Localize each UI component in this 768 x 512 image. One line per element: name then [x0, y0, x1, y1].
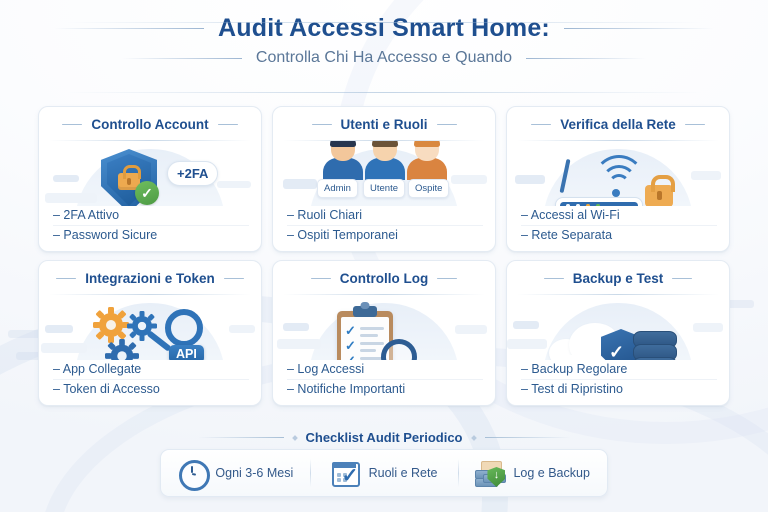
card-bullets: – Ruoli Chiari – Ospiti Temporanei [273, 206, 495, 251]
cloud-shield-database-icon: ✓ [507, 295, 729, 360]
card-bullets: – App Collegate – Token di Accesso [39, 360, 261, 405]
card-header: Controllo Log [273, 261, 495, 292]
dash-left-icon [531, 124, 551, 126]
header-hairline-bottom [66, 92, 702, 93]
card-header: Controllo Account [39, 107, 261, 138]
footer-rule-right [485, 437, 571, 438]
dash-left-icon [544, 278, 564, 280]
bullet-item: – App Collegate [53, 360, 249, 380]
shield-lock-check-icon: ✓ +2FA [39, 141, 261, 206]
card-header: Utenti e Ruoli [273, 107, 495, 138]
gear-orange-icon [93, 307, 129, 343]
footer-title: Checklist Audit Periodico [306, 430, 463, 445]
badge-2fa: +2FA [167, 161, 218, 186]
title-rule-right [564, 28, 714, 29]
card-artwork: API [39, 295, 261, 360]
card-artwork: Admin Utente Ospite [273, 141, 495, 206]
card-artwork: ✓ +2FA [39, 141, 261, 206]
clock-icon [177, 460, 207, 486]
dash-right-icon [437, 124, 457, 126]
dash-left-icon [311, 278, 331, 280]
footer-item-log-backup[interactable]: ↓ Log e Backup [458, 450, 607, 496]
gears-key-api-icon: API [39, 295, 261, 360]
database-icon [633, 331, 677, 360]
dash-right-icon [218, 124, 238, 126]
card-utenti-e-ruoli[interactable]: Utenti e Ruoli [272, 106, 496, 252]
api-tag: API [169, 345, 204, 360]
page-subtitle: Controlla Chi Ha Accesso e Quando [256, 49, 512, 67]
card-bullets: – Accessi al Wi-Fi – Rete Separata [507, 206, 729, 251]
bullet-item: – Test di Ripristino [521, 380, 717, 399]
card-artwork: ✓ ✓ ✓ [273, 295, 495, 360]
diamond-icon [292, 435, 298, 441]
footer-item-frequency[interactable]: Ogni 3-6 Mesi [161, 450, 310, 496]
three-users-icon: Admin Utente Ospite [273, 141, 495, 206]
bullet-item: – Log Accessi [287, 360, 483, 380]
card-integrazioni-e-token[interactable]: Integrazioni e Token [38, 260, 262, 406]
footer-rule-left [198, 437, 284, 438]
title-row: Audit Accessi Smart Home: [0, 14, 768, 43]
header-hairline-top [66, 22, 702, 23]
card-header: Integrazioni e Token [39, 261, 261, 292]
card-title: Verifica della Rete [560, 117, 676, 132]
card-backup-e-test[interactable]: Backup e Test ✓ [506, 260, 730, 406]
key-icon [165, 309, 203, 347]
dash-right-icon [672, 278, 692, 280]
bullet-item: – Rete Separata [521, 226, 717, 245]
card-bullets: – 2FA Attivo – Password Sicure [39, 206, 261, 251]
bullet-item: – Accessi al Wi-Fi [521, 206, 717, 226]
dash-left-icon [56, 278, 76, 280]
card-title: Utenti e Ruoli [341, 117, 428, 132]
subtitle-row: Controlla Chi Ha Accesso e Quando [0, 49, 768, 67]
dash-right-icon [224, 278, 244, 280]
cards-grid: Controllo Account ✓ +2FA – 2 [38, 106, 730, 406]
dash-right-icon [437, 278, 457, 280]
dash-left-icon [312, 124, 332, 126]
magnifier-icon [381, 339, 417, 360]
bullet-item: – Backup Regolare [521, 360, 717, 380]
card-title: Controllo Account [91, 117, 208, 132]
footer-checklist: Checklist Audit Periodico Ogni 3-6 Mesi [160, 430, 608, 497]
card-header: Verifica della Rete [507, 107, 729, 138]
bullet-item: – Password Sicure [53, 226, 249, 245]
footer-item-label: Log e Backup [513, 466, 589, 480]
card-header: Backup e Test [507, 261, 729, 292]
footer-items-box: Ogni 3-6 Mesi ✓ Ruoli e Rete [160, 449, 608, 497]
card-title: Integrazioni e Token [85, 271, 215, 286]
subtitle-rule-right [526, 58, 646, 59]
card-title: Controllo Log [340, 271, 428, 286]
card-artwork: ✓ [507, 295, 729, 360]
footer-title-row: Checklist Audit Periodico [160, 430, 608, 445]
bullet-item: – Ospiti Temporanei [287, 226, 483, 245]
card-controllo-log[interactable]: Controllo Log ✓ ✓ ✓ [272, 260, 496, 406]
subtitle-rule-left [122, 58, 242, 59]
role-badge-utente: Utente [363, 179, 405, 198]
infographic-page: Audit Accessi Smart Home: Controlla Chi … [0, 0, 768, 512]
footer-item-label: Ogni 3-6 Mesi [215, 466, 293, 480]
card-title: Backup e Test [573, 271, 664, 286]
bullet-item: – Ruoli Chiari [287, 206, 483, 226]
gear-blue-bottom-icon [105, 339, 139, 360]
role-badge-admin: Admin [317, 179, 358, 198]
server-shield-icon: ↓ [475, 460, 505, 486]
card-controllo-account[interactable]: Controllo Account ✓ +2FA – 2 [38, 106, 262, 252]
bullet-item: – Notifiche Importanti [287, 380, 483, 399]
role-badge-ospite: Ospite [408, 179, 449, 198]
footer-item-roles-network[interactable]: ✓ Ruoli e Rete [310, 450, 459, 496]
card-bullets: – Log Accessi – Notifiche Importanti [273, 360, 495, 405]
footer-item-label: Ruoli e Rete [369, 466, 438, 480]
clipboard-magnifier-icon: ✓ ✓ ✓ [273, 295, 495, 360]
page-title: Audit Accessi Smart Home: [218, 14, 550, 43]
card-artwork [507, 141, 729, 206]
dash-right-icon [685, 124, 705, 126]
dash-left-icon [62, 124, 82, 126]
card-verifica-della-rete[interactable]: Verifica della Rete [506, 106, 730, 252]
diamond-icon [471, 435, 477, 441]
calendar-check-icon: ✓ [331, 460, 361, 486]
bullet-item: – 2FA Attivo [53, 206, 249, 226]
title-rule-left [54, 28, 204, 29]
card-bullets: – Backup Regolare – Test di Ripristino [507, 360, 729, 405]
bullet-item: – Token di Accesso [53, 380, 249, 399]
router-wifi-lock-icon [507, 141, 729, 206]
